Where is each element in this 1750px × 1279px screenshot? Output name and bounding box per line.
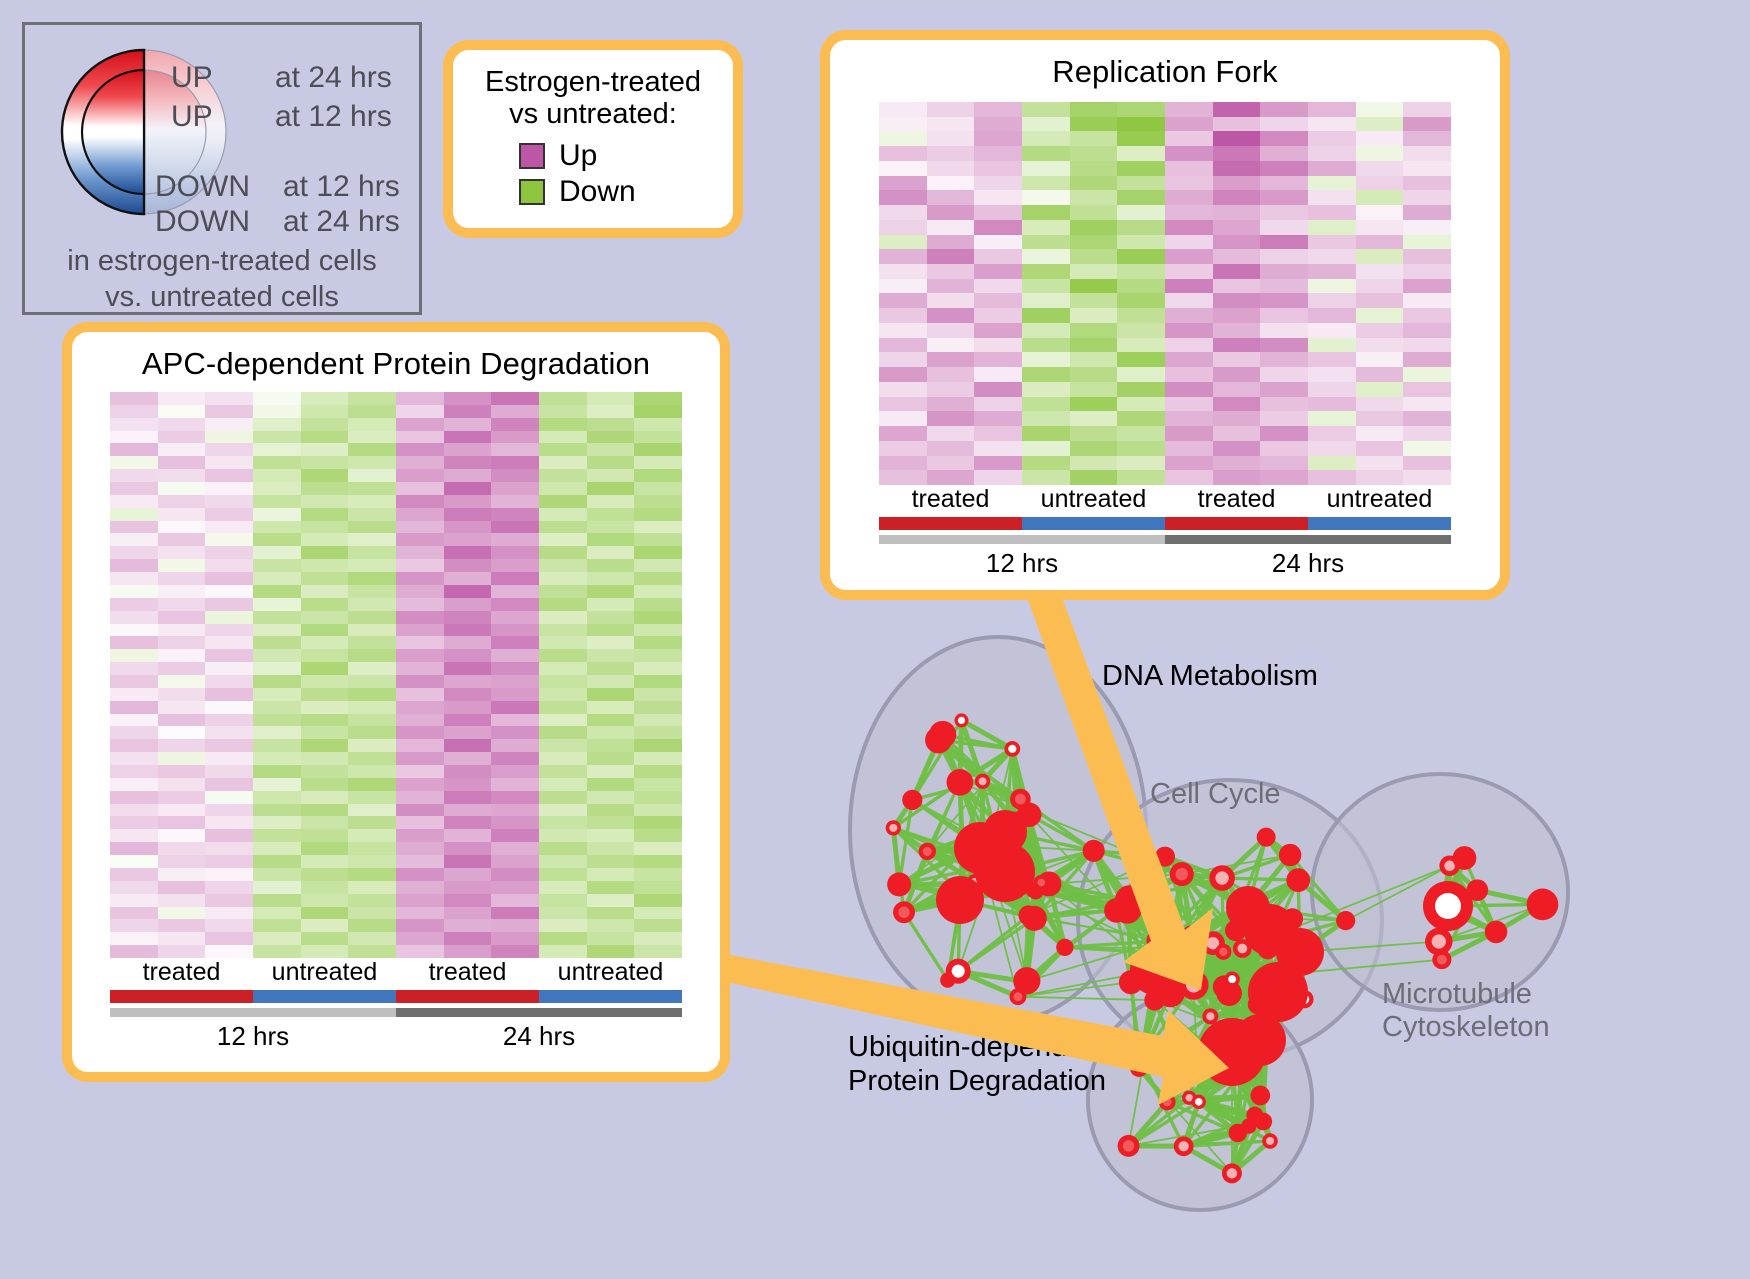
heatmap-cell [927, 176, 975, 191]
heatmap-cell [1117, 323, 1165, 338]
heatmap-cell [539, 572, 587, 585]
apc-heatmap [110, 392, 682, 958]
heatmap-cell [301, 482, 349, 495]
heatmap-cell [587, 418, 635, 431]
heatmap-cell [396, 624, 444, 637]
heatmap-cell [879, 279, 927, 294]
heatmap-cell [396, 842, 444, 855]
heatmap-cell [879, 293, 927, 308]
heatmap-cell [253, 881, 301, 894]
heatmap-cell [1356, 382, 1404, 397]
heatmap-cell [879, 308, 927, 323]
heatmap-cell [1260, 293, 1308, 308]
heatmap-cell [1165, 397, 1213, 412]
heatmap-cell [1403, 117, 1451, 132]
heatmap-cell [253, 559, 301, 572]
heatmap-cell [1070, 323, 1118, 338]
heatmap-cell [348, 842, 396, 855]
heatmap-cell [253, 405, 301, 418]
replication-fork-title: Replication Fork [830, 54, 1500, 90]
heatmap-cell [444, 881, 492, 894]
heatmap-cell [444, 482, 492, 495]
heatmap-cell [927, 323, 975, 338]
heatmap-cell [539, 611, 587, 624]
heatmap-cell [539, 482, 587, 495]
heatmap-cell [1213, 441, 1261, 456]
heatmap-cell [1213, 411, 1261, 426]
heatmap-cell [1260, 338, 1308, 353]
heatmap-cell [444, 469, 492, 482]
heatmap-cell [444, 431, 492, 444]
network-node[interactable] [1234, 1014, 1286, 1066]
heatmap-cell [396, 456, 444, 469]
network-node[interactable] [1248, 962, 1308, 1022]
apc-time-bar-1 [396, 1008, 682, 1017]
network-node[interactable] [1056, 939, 1073, 956]
heatmap-cell [1308, 411, 1356, 426]
network-node-core [1014, 992, 1023, 1001]
network-node[interactable] [1250, 1086, 1270, 1106]
heatmap-cell [1403, 220, 1451, 235]
apc-degradation-panel: APC-dependent Protein Degradation treate… [62, 322, 730, 1082]
heatmap-cell [587, 533, 635, 546]
heatmap-cell [491, 688, 539, 701]
heatmap-cell [879, 146, 927, 161]
heatmap-cell [205, 919, 253, 932]
network-node-core [1437, 955, 1447, 965]
network-node[interactable] [1527, 889, 1559, 921]
heatmap-cell [634, 778, 682, 791]
heatmap-cell [444, 585, 492, 598]
heatmap-cell [587, 546, 635, 559]
heatmap-cell [1165, 235, 1213, 250]
legend-title-line1: Estrogen-treated [453, 66, 733, 98]
heatmap-cell [491, 842, 539, 855]
heatmap-cell [158, 482, 206, 495]
network-node[interactable] [1226, 886, 1270, 930]
heatmap-cell [634, 907, 682, 920]
heatmap-cell [539, 829, 587, 842]
heatmap-cell [253, 624, 301, 637]
heatmap-cell [348, 816, 396, 829]
heatmap-cell [110, 855, 158, 868]
heatmap-cell [1070, 117, 1118, 132]
heatmap-cell [253, 636, 301, 649]
heatmap-cell [205, 945, 253, 958]
heatmap-cell [879, 323, 927, 338]
heatmap-cell [1403, 308, 1451, 323]
heatmap-cell [205, 675, 253, 688]
heatmap-cell [1070, 308, 1118, 323]
heatmap-cell [1165, 161, 1213, 176]
heatmap-cell [587, 443, 635, 456]
heatmap-cell [1403, 264, 1451, 279]
network-node-core [1008, 745, 1016, 753]
heatmap-cell [587, 405, 635, 418]
heatmap-cell [927, 308, 975, 323]
heatmap-cell [301, 829, 349, 842]
heatmap-cell [444, 688, 492, 701]
network-node[interactable] [936, 876, 984, 924]
heatmap-cell [634, 559, 682, 572]
heatmap-cell [110, 829, 158, 842]
heatmap-cell [974, 352, 1022, 367]
heatmap-cell [634, 791, 682, 804]
heatmap-cell [396, 945, 444, 958]
network-node[interactable] [1113, 895, 1142, 924]
heatmap-cell [1308, 102, 1356, 117]
heatmap-cell [974, 367, 1022, 382]
network-node[interactable] [1130, 945, 1180, 995]
heatmap-cell [1403, 397, 1451, 412]
heatmap-cell [974, 220, 1022, 235]
heatmap-cell [205, 932, 253, 945]
cluster-label-ubiquitin-degradation: Ubiquitin-dependent Protein Degradation [848, 1030, 1108, 1098]
apc-axis: treated untreated treated untreated 12 h… [110, 958, 682, 1052]
heatmap-cell [587, 469, 635, 482]
heatmap-cell [587, 624, 635, 637]
heatmap-cell [1260, 249, 1308, 264]
heatmap-cell [1070, 397, 1118, 412]
network-node[interactable] [1022, 906, 1047, 931]
heatmap-cell [491, 482, 539, 495]
heatmap-cell [587, 456, 635, 469]
heatmap-cell [1165, 441, 1213, 456]
heatmap-cell [1356, 235, 1404, 250]
heatmap-cell [444, 855, 492, 868]
heatmap-cell [396, 726, 444, 739]
heatmap-cell [444, 701, 492, 714]
heatmap-cell [1213, 279, 1261, 294]
heatmap-cell [396, 431, 444, 444]
heatmap-cell [110, 495, 158, 508]
heatmap-cell [301, 559, 349, 572]
heatmap-cell [1403, 293, 1451, 308]
heatmap-cell [444, 624, 492, 637]
apc-group-bar [110, 990, 682, 1003]
heatmap-cell [253, 701, 301, 714]
heatmap-cell [491, 636, 539, 649]
heatmap-cell [1022, 293, 1070, 308]
heatmap-cell [491, 572, 539, 585]
network-node[interactable] [1254, 1113, 1272, 1131]
network-node[interactable] [1286, 868, 1310, 892]
heatmap-cell [1165, 308, 1213, 323]
heatmap-cell [253, 842, 301, 855]
heatmap-cell [1260, 161, 1308, 176]
heatmap-cell [1260, 117, 1308, 132]
heatmap-cell [158, 521, 206, 534]
heatmap-cell [110, 598, 158, 611]
heatmap-cell [539, 701, 587, 714]
heatmap-cell [879, 397, 927, 412]
heatmap-cell [1165, 264, 1213, 279]
apc-group-label-2: treated [396, 958, 539, 987]
heatmap-cell [974, 308, 1022, 323]
network-node[interactable] [902, 790, 922, 810]
heatmap-cell [110, 868, 158, 881]
heatmap-cell [587, 894, 635, 907]
heatmap-cell [301, 701, 349, 714]
heatmap-cell [253, 469, 301, 482]
heatmap-cell [205, 907, 253, 920]
heatmap-cell [158, 791, 206, 804]
heatmap-cell [158, 868, 206, 881]
heatmap-cell [1308, 426, 1356, 441]
network-node[interactable] [1453, 846, 1477, 870]
heatmap-cell [396, 469, 444, 482]
heatmap-cell [491, 907, 539, 920]
cluster-label-dna-metabolism: DNA Metabolism [1102, 660, 1318, 693]
heatmap-cell [253, 572, 301, 585]
network-node[interactable] [1279, 844, 1301, 866]
heatmap-cell [348, 533, 396, 546]
heatmap-cell [1308, 146, 1356, 161]
heatmap-cell [491, 469, 539, 482]
heatmap-cell [1070, 264, 1118, 279]
estrogen-legend-panel: Estrogen-treated vs untreated: Up Down [443, 40, 743, 238]
heatmap-cell [253, 533, 301, 546]
heatmap-cell [1070, 470, 1118, 485]
network-node[interactable] [1336, 911, 1355, 930]
heatmap-cell [491, 443, 539, 456]
heatmap-cell [205, 636, 253, 649]
heatmap-cell [1117, 190, 1165, 205]
heatmap-cell [634, 804, 682, 817]
heatmap-cell [158, 572, 206, 585]
heatmap-cell [1070, 249, 1118, 264]
network-node[interactable] [1241, 1118, 1256, 1133]
heatmap-cell [1070, 338, 1118, 353]
heatmap-cell [1403, 190, 1451, 205]
heatmap-cell [974, 161, 1022, 176]
heatmap-cell [301, 469, 349, 482]
heatmap-cell [879, 338, 927, 353]
network-node[interactable] [1155, 847, 1175, 867]
heatmap-cell [1213, 397, 1261, 412]
heatmap-cell [158, 894, 206, 907]
heatmap-cell [974, 470, 1022, 485]
network-node[interactable] [887, 872, 911, 896]
heatmap-cell [1356, 117, 1404, 132]
heatmap-cell [1403, 323, 1451, 338]
heatmap-cell [205, 559, 253, 572]
heatmap-cell [110, 405, 158, 418]
heatmap-cell [1213, 102, 1261, 117]
heatmap-cell [396, 791, 444, 804]
network-node-core [1195, 1098, 1202, 1105]
heatmap-cell [396, 829, 444, 842]
network-node[interactable] [983, 810, 1027, 854]
heatmap-cell [587, 482, 635, 495]
heatmap-cell [587, 688, 635, 701]
heatmap-cell [539, 842, 587, 855]
heatmap-cell [539, 418, 587, 431]
heatmap-cell [158, 533, 206, 546]
heatmap-cell [158, 456, 206, 469]
ring-legend-label-down-24: DOWN [155, 205, 250, 239]
heatmap-cell [1308, 161, 1356, 176]
heatmap-cell [1260, 323, 1308, 338]
network-node[interactable] [1485, 921, 1508, 944]
heatmap-cell [974, 441, 1022, 456]
network-node[interactable] [1013, 967, 1040, 994]
heatmap-cell [634, 611, 682, 624]
network-node-core [1136, 1054, 1146, 1064]
heatmap-cell [253, 585, 301, 598]
heatmap-cell [587, 572, 635, 585]
heatmap-cell [348, 649, 396, 662]
heatmap-cell [1213, 146, 1261, 161]
network-node[interactable] [1083, 840, 1105, 862]
heatmap-cell [348, 829, 396, 842]
heatmap-cell [879, 205, 927, 220]
network-node[interactable] [1257, 828, 1276, 847]
network-node[interactable] [1131, 855, 1154, 878]
heatmap-cell [1356, 323, 1404, 338]
heatmap-cell [444, 533, 492, 546]
heatmap-cell [205, 392, 253, 405]
heatmap-cell [396, 405, 444, 418]
heatmap-cell [634, 508, 682, 521]
ring-legend-time-down-12: at 12 hrs [283, 170, 400, 204]
heatmap-cell [1356, 352, 1404, 367]
heatmap-cell [1165, 426, 1213, 441]
heatmap-cell [348, 739, 396, 752]
heatmap-cell [634, 829, 682, 842]
heatmap-cell [158, 469, 206, 482]
heatmap-cell [158, 611, 206, 624]
heatmap-cell [205, 816, 253, 829]
heatmap-cell [205, 752, 253, 765]
heatmap-cell [1022, 308, 1070, 323]
heatmap-cell [444, 752, 492, 765]
heatmap-cell [158, 726, 206, 739]
heatmap-cell [158, 714, 206, 727]
heatmap-cell [1308, 308, 1356, 323]
heatmap-cell [587, 829, 635, 842]
heatmap-cell [1117, 456, 1165, 471]
network-node-core [1186, 977, 1201, 992]
heatmap-cell [444, 611, 492, 624]
heatmap-cell [539, 739, 587, 752]
heatmap-cell [539, 649, 587, 662]
heatmap-cell [1070, 293, 1118, 308]
heatmap-cell [110, 791, 158, 804]
heatmap-cell [396, 804, 444, 817]
heatmap-cell [1117, 397, 1165, 412]
heatmap-cell [1117, 117, 1165, 132]
heatmap-cell [1260, 220, 1308, 235]
heatmap-cell [396, 611, 444, 624]
cluster-label-cell-cycle: Cell Cycle [1150, 778, 1281, 811]
heatmap-cell [587, 881, 635, 894]
heatmap-cell [205, 533, 253, 546]
heatmap-cell [634, 739, 682, 752]
heatmap-cell [927, 352, 975, 367]
heatmap-cell [301, 624, 349, 637]
heatmap-cell [348, 495, 396, 508]
heatmap-cell [1070, 102, 1118, 117]
heatmap-cell [348, 804, 396, 817]
heatmap-cell [1260, 190, 1308, 205]
heatmap-cell [444, 842, 492, 855]
heatmap-cell [1308, 220, 1356, 235]
heatmap-cell [396, 508, 444, 521]
heatmap-cell [158, 418, 206, 431]
network-node[interactable] [929, 721, 956, 748]
heatmap-cell [1403, 411, 1451, 426]
replication-fork-group-labels: treated untreated treated untreated [879, 485, 1451, 514]
heatmap-cell [301, 611, 349, 624]
heatmap-cell [348, 598, 396, 611]
rf-time-bar-0 [879, 535, 1165, 544]
rf-group-label-2: treated [1165, 485, 1308, 514]
heatmap-cell [1165, 338, 1213, 353]
heatmap-cell [587, 662, 635, 675]
cluster-label-ubiquitin-line2: Protein Degradation [848, 1064, 1108, 1098]
heatmap-cell [444, 495, 492, 508]
heatmap-cell [587, 611, 635, 624]
rf-group-label-0: treated [879, 485, 1022, 514]
heatmap-cell [110, 649, 158, 662]
heatmap-cell [110, 701, 158, 714]
heatmap-cell [974, 411, 1022, 426]
heatmap-cell [1117, 176, 1165, 191]
heatmap-cell [348, 752, 396, 765]
heatmap-cell [158, 675, 206, 688]
heatmap-cell [634, 701, 682, 714]
heatmap-cell [1165, 102, 1213, 117]
heatmap-cell [1356, 293, 1404, 308]
heatmap-cell [879, 102, 927, 117]
heatmap-cell [634, 842, 682, 855]
heatmap-cell [539, 855, 587, 868]
heatmap-cell [396, 546, 444, 559]
heatmap-cell [205, 456, 253, 469]
heatmap-cell [491, 392, 539, 405]
replication-fork-time-bar [879, 535, 1451, 544]
network-node[interactable] [947, 769, 974, 796]
heatmap-cell [1403, 279, 1451, 294]
heatmap-cell [301, 443, 349, 456]
heatmap-cell [587, 521, 635, 534]
network-node-core [979, 777, 987, 785]
heatmap-cell [110, 572, 158, 585]
heatmap-cell [974, 323, 1022, 338]
heatmap-cell [444, 392, 492, 405]
heatmap-cell [539, 469, 587, 482]
heatmap-cell [587, 816, 635, 829]
heatmap-cell [1022, 235, 1070, 250]
heatmap-cell [205, 482, 253, 495]
heatmap-cell [927, 382, 975, 397]
heatmap-cell [444, 662, 492, 675]
heatmap-cell [1260, 441, 1308, 456]
heatmap-cell [205, 521, 253, 534]
heatmap-cell [539, 868, 587, 881]
heatmap-cell [634, 431, 682, 444]
heatmap-cell [1403, 205, 1451, 220]
heatmap-cell [539, 598, 587, 611]
heatmap-cell [444, 456, 492, 469]
heatmap-cell [1022, 205, 1070, 220]
heatmap-cell [396, 701, 444, 714]
heatmap-cell [158, 431, 206, 444]
heatmap-cell [396, 765, 444, 778]
heatmap-cell [587, 701, 635, 714]
network-node[interactable] [940, 972, 955, 987]
